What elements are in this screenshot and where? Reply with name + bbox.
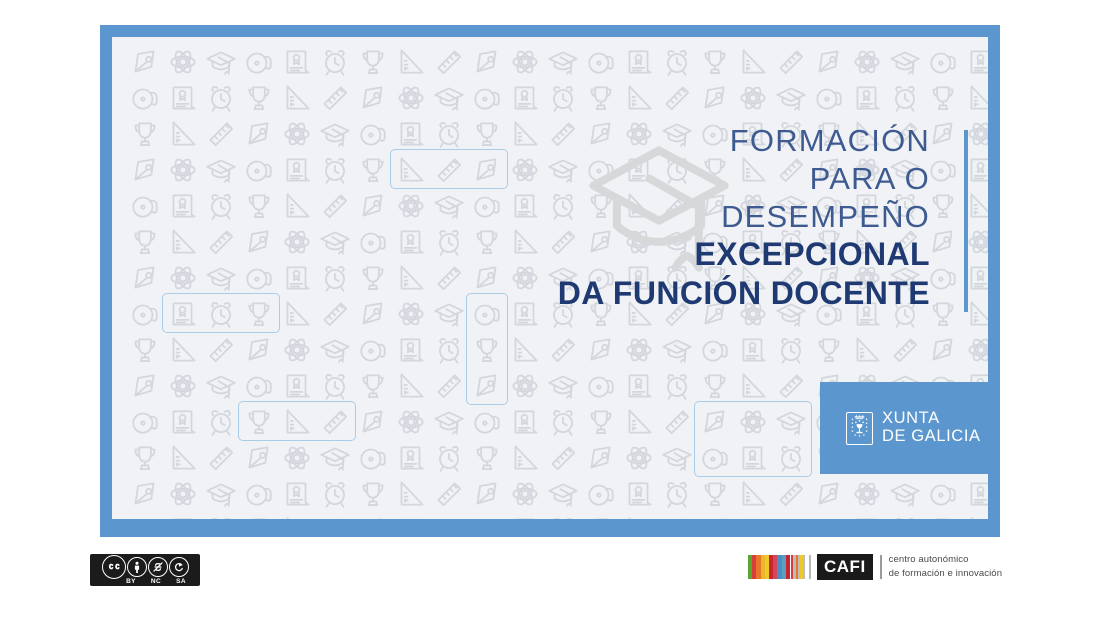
- certificate-icon: [622, 369, 656, 403]
- triangle-ruler-icon: [166, 441, 200, 475]
- triangle-ruler-icon: [280, 189, 314, 223]
- alarm-clock-icon: [660, 369, 694, 403]
- certificate-icon: [166, 513, 200, 519]
- trophy-icon: [356, 477, 390, 511]
- ruler-icon: [774, 45, 808, 79]
- triangle-ruler-icon: [280, 513, 314, 519]
- graduation-cap-icon: [204, 261, 238, 295]
- bell-icon: [242, 261, 276, 295]
- alarm-clock-icon: [546, 81, 580, 115]
- atom-icon: [166, 261, 200, 295]
- bell-icon: [242, 369, 276, 403]
- triangle-ruler-icon: [508, 117, 542, 151]
- trophy-icon: [698, 45, 732, 79]
- trophy-icon: [242, 513, 276, 519]
- pen-nib-icon: [926, 333, 960, 367]
- title-line-4: EXCEPCIONAL: [558, 235, 930, 274]
- graduation-cap-icon: [888, 45, 922, 79]
- bell-icon: [128, 189, 162, 223]
- pen-nib-icon: [242, 225, 276, 259]
- alarm-clock-icon: [204, 513, 238, 519]
- ruler-icon: [204, 333, 238, 367]
- atom-icon: [622, 333, 656, 367]
- trophy-icon: [128, 441, 162, 475]
- ruler-icon: [432, 45, 466, 79]
- ruler-icon: [432, 369, 466, 403]
- pen-nib-icon: [242, 117, 276, 151]
- certificate-icon: [280, 45, 314, 79]
- title-line-1: FORMACIÓN: [558, 122, 930, 160]
- atom-icon: [280, 117, 314, 151]
- graduation-cap-icon: [204, 45, 238, 79]
- cafi-tagline-divider: [880, 555, 882, 579]
- trophy-icon: [698, 369, 732, 403]
- triangle-ruler-icon: [964, 513, 988, 519]
- creative-commons-license-badge[interactable]: BY NC SA: [90, 554, 200, 586]
- ruler-icon: [204, 225, 238, 259]
- triangle-ruler-icon: [850, 333, 884, 367]
- trophy-icon: [812, 333, 846, 367]
- atom-icon: [394, 405, 428, 439]
- pen-nib-icon: [356, 405, 390, 439]
- bell-icon: [926, 477, 960, 511]
- triangle-ruler-icon: [508, 441, 542, 475]
- title-line-3: DESEMPEÑO: [558, 198, 930, 236]
- triangle-ruler-icon: [166, 225, 200, 259]
- sa-share-alike-icon: [169, 557, 189, 577]
- cafi-divider: [809, 555, 811, 579]
- atom-icon: [394, 297, 428, 331]
- trophy-icon: [698, 477, 732, 511]
- graduation-cap-icon: [318, 225, 352, 259]
- graduation-cap-icon: [318, 333, 352, 367]
- ruler-icon: [660, 81, 694, 115]
- cafi-stripe-9: [786, 555, 790, 579]
- certificate-icon: [850, 81, 884, 115]
- ruler-icon: [204, 441, 238, 475]
- certificate-icon: [622, 45, 656, 79]
- certificate-icon: [964, 45, 988, 79]
- ruler-icon: [318, 189, 352, 223]
- graduation-cap-icon: [546, 45, 580, 79]
- bell-icon: [242, 477, 276, 511]
- alarm-clock-icon: [888, 513, 922, 519]
- bell-icon: [128, 405, 162, 439]
- bell-icon: [356, 441, 390, 475]
- nc-no-money-icon: [148, 557, 168, 577]
- highlight-cap-bell-block: [694, 401, 812, 477]
- pen-nib-icon: [356, 513, 390, 519]
- atom-icon: [280, 225, 314, 259]
- graduation-cap-icon: [660, 333, 694, 367]
- cc-label-sa: SA: [173, 578, 189, 585]
- trophy-icon: [584, 81, 618, 115]
- trophy-icon: [128, 333, 162, 367]
- bell-icon: [812, 81, 846, 115]
- xunta-line-1: XUNTA: [882, 410, 981, 428]
- trophy-icon: [470, 117, 504, 151]
- certificate-icon: [736, 333, 770, 367]
- certificate-icon: [280, 369, 314, 403]
- atom-icon: [508, 369, 542, 403]
- triangle-ruler-icon: [964, 81, 988, 115]
- alarm-clock-icon: [432, 441, 466, 475]
- ruler-icon: [660, 405, 694, 439]
- atom-icon: [622, 441, 656, 475]
- certificate-icon: [166, 189, 200, 223]
- certificate-icon: [508, 405, 542, 439]
- triangle-ruler-icon: [622, 405, 656, 439]
- bell-icon: [470, 405, 504, 439]
- ruler-icon: [888, 333, 922, 367]
- pen-nib-icon: [926, 117, 960, 151]
- alarm-clock-icon: [888, 81, 922, 115]
- graduation-cap-icon: [432, 513, 466, 519]
- trophy-icon: [356, 261, 390, 295]
- bell-icon: [698, 333, 732, 367]
- pen-nib-icon: [128, 45, 162, 79]
- cafi-color-stripes: [748, 555, 790, 579]
- bell-icon: [128, 81, 162, 115]
- atom-icon: [736, 81, 770, 115]
- atom-icon: [280, 441, 314, 475]
- triangle-ruler-icon: [622, 81, 656, 115]
- trophy-icon: [356, 45, 390, 79]
- pen-nib-icon: [356, 81, 390, 115]
- certificate-icon: [394, 441, 428, 475]
- triangle-ruler-icon: [622, 513, 656, 519]
- certificate-icon: [166, 405, 200, 439]
- bell-icon: [926, 153, 960, 187]
- trophy-icon: [584, 513, 618, 519]
- pen-nib-icon: [698, 513, 732, 519]
- cc-label-by: BY: [123, 578, 139, 585]
- xunta-de-galicia-logo-panel: XUNTA DE GALICIA: [820, 382, 988, 474]
- bell-icon: [470, 189, 504, 223]
- certificate-icon: [850, 513, 884, 519]
- cafi-logo: CAFI centro autonómico de formación e in…: [748, 552, 1002, 582]
- graduation-cap-icon: [546, 477, 580, 511]
- graduation-cap-icon: [432, 189, 466, 223]
- ruler-icon: [318, 297, 352, 331]
- ruler-icon: [660, 513, 694, 519]
- certificate-icon: [508, 81, 542, 115]
- bell-icon: [584, 369, 618, 403]
- trophy-icon: [128, 225, 162, 259]
- triangle-ruler-icon: [508, 333, 542, 367]
- atom-icon: [166, 153, 200, 187]
- bell-icon: [812, 513, 846, 519]
- pen-nib-icon: [584, 333, 618, 367]
- ruler-icon: [546, 333, 580, 367]
- trophy-icon: [356, 153, 390, 187]
- title-line-2: PARA O: [558, 160, 930, 198]
- alarm-clock-icon: [318, 369, 352, 403]
- slide-content-area: FORMACIÓN PARA O DESEMPEÑO EXCEPCIONAL D…: [112, 37, 988, 519]
- graduation-cap-icon: [318, 117, 352, 151]
- certificate-icon: [394, 117, 428, 151]
- alarm-clock-icon: [204, 405, 238, 439]
- ruler-icon: [318, 81, 352, 115]
- alarm-clock-icon: [546, 405, 580, 439]
- highlight-vertical-pen: [466, 293, 508, 405]
- graduation-cap-icon: [318, 441, 352, 475]
- triangle-ruler-icon: [394, 261, 428, 295]
- title-line-5: DA FUNCIÓN DOCENTE: [558, 274, 930, 313]
- cc-icon: [102, 555, 126, 579]
- certificate-icon: [394, 225, 428, 259]
- pen-nib-icon: [128, 261, 162, 295]
- alarm-clock-icon: [546, 513, 580, 519]
- triangle-ruler-icon: [166, 333, 200, 367]
- trophy-icon: [926, 513, 960, 519]
- certificate-icon: [508, 513, 542, 519]
- certificate-icon: [622, 477, 656, 511]
- alarm-clock-icon: [432, 117, 466, 151]
- trophy-icon: [470, 441, 504, 475]
- atom-icon: [166, 369, 200, 403]
- certificate-icon: [166, 81, 200, 115]
- triangle-ruler-icon: [736, 45, 770, 79]
- highlight-pen-row: [238, 401, 356, 441]
- pen-nib-icon: [470, 477, 504, 511]
- pen-nib-icon: [356, 189, 390, 223]
- graduation-cap-icon: [204, 477, 238, 511]
- alarm-clock-icon: [318, 261, 352, 295]
- trophy-icon: [242, 81, 276, 115]
- atom-icon: [736, 513, 770, 519]
- atom-icon: [166, 477, 200, 511]
- graduation-cap-icon: [204, 369, 238, 403]
- slide-title-block: FORMACIÓN PARA O DESEMPEÑO EXCEPCIONAL D…: [558, 122, 930, 314]
- xunta-line-2: DE GALICIA: [882, 428, 981, 446]
- ruler-icon: [546, 441, 580, 475]
- triangle-ruler-icon: [736, 477, 770, 511]
- certificate-icon: [280, 261, 314, 295]
- trophy-icon: [356, 369, 390, 403]
- atom-icon: [394, 81, 428, 115]
- cafi-tagline-line-2: de formación e innovación: [889, 567, 1002, 581]
- ruler-icon: [204, 117, 238, 151]
- triangle-ruler-icon: [394, 45, 428, 79]
- graduation-cap-icon: [774, 81, 808, 115]
- cafi-thin-stripe-5: [803, 555, 805, 579]
- bell-icon: [128, 297, 162, 331]
- trophy-icon: [926, 297, 960, 331]
- title-accent-bar: [964, 130, 968, 312]
- graduation-cap-icon: [432, 297, 466, 331]
- certificate-icon: [280, 477, 314, 511]
- highlight-trophy-row: [390, 149, 508, 189]
- trophy-icon: [926, 189, 960, 223]
- ruler-icon: [774, 369, 808, 403]
- certificate-icon: [280, 153, 314, 187]
- alarm-clock-icon: [432, 333, 466, 367]
- pen-nib-icon: [698, 81, 732, 115]
- trophy-icon: [470, 225, 504, 259]
- triangle-ruler-icon: [280, 297, 314, 331]
- pen-nib-icon: [470, 261, 504, 295]
- bell-icon: [356, 225, 390, 259]
- graduation-cap-icon: [660, 441, 694, 475]
- pen-nib-icon: [926, 225, 960, 259]
- pen-nib-icon: [242, 441, 276, 475]
- trophy-icon: [128, 117, 162, 151]
- cc-label-row: BY NC SA: [101, 578, 189, 585]
- ruler-icon: [318, 513, 352, 519]
- graduation-cap-icon: [774, 513, 808, 519]
- certificate-icon: [964, 477, 988, 511]
- alarm-clock-icon: [318, 45, 352, 79]
- bell-icon: [470, 513, 504, 519]
- atom-icon: [394, 513, 428, 519]
- cafi-thin-stripes: [791, 555, 805, 579]
- triangle-ruler-icon: [166, 117, 200, 151]
- atom-icon: [850, 45, 884, 79]
- atom-icon: [964, 333, 988, 367]
- bell-icon: [356, 333, 390, 367]
- cafi-tagline-line-1: centro autonómico: [889, 553, 1002, 567]
- cc-icon-row: [102, 556, 189, 577]
- alarm-clock-icon: [660, 45, 694, 79]
- triangle-ruler-icon: [394, 369, 428, 403]
- alarm-clock-icon: [432, 225, 466, 259]
- bell-icon: [470, 81, 504, 115]
- atom-icon: [280, 333, 314, 367]
- pen-nib-icon: [584, 441, 618, 475]
- atom-icon: [508, 261, 542, 295]
- alarm-clock-icon: [318, 153, 352, 187]
- slide-frame: FORMACIÓN PARA O DESEMPEÑO EXCEPCIONAL D…: [100, 25, 1000, 537]
- bell-icon: [926, 261, 960, 295]
- atom-icon: [166, 45, 200, 79]
- pen-nib-icon: [128, 477, 162, 511]
- ruler-icon: [774, 477, 808, 511]
- triangle-ruler-icon: [280, 81, 314, 115]
- pen-nib-icon: [812, 477, 846, 511]
- alarm-clock-icon: [204, 189, 238, 223]
- pen-nib-icon: [242, 333, 276, 367]
- atom-icon: [394, 189, 428, 223]
- bell-icon: [356, 117, 390, 151]
- bell-icon: [926, 45, 960, 79]
- certificate-icon: [508, 189, 542, 223]
- graduation-cap-icon: [204, 153, 238, 187]
- ruler-icon: [432, 477, 466, 511]
- cafi-tagline: centro autonómico de formación e innovac…: [889, 553, 1002, 581]
- pen-nib-icon: [812, 45, 846, 79]
- by-person-icon: [127, 557, 147, 577]
- graduation-cap-icon: [432, 81, 466, 115]
- pen-nib-icon: [356, 297, 390, 331]
- graduation-cap-icon: [432, 405, 466, 439]
- atom-icon: [508, 153, 542, 187]
- alarm-clock-icon: [318, 477, 352, 511]
- atom-icon: [508, 477, 542, 511]
- atom-icon: [850, 477, 884, 511]
- pen-nib-icon: [470, 45, 504, 79]
- xunta-wordmark: XUNTA DE GALICIA: [882, 410, 981, 446]
- pen-nib-icon: [128, 153, 162, 187]
- bell-icon: [242, 153, 276, 187]
- galicia-chalice-crown-emblem-icon: [846, 412, 873, 445]
- triangle-ruler-icon: [736, 369, 770, 403]
- cc-label-nc: NC: [148, 578, 164, 585]
- alarm-clock-icon: [204, 81, 238, 115]
- alarm-clock-icon: [774, 333, 808, 367]
- trophy-icon: [584, 405, 618, 439]
- trophy-icon: [242, 189, 276, 223]
- triangle-ruler-icon: [508, 225, 542, 259]
- triangle-ruler-icon: [394, 477, 428, 511]
- bell-icon: [128, 513, 162, 519]
- ruler-icon: [432, 261, 466, 295]
- certificate-icon: [394, 333, 428, 367]
- highlight-cap-row: [162, 293, 280, 333]
- trophy-icon: [926, 81, 960, 115]
- bell-icon: [242, 45, 276, 79]
- bell-icon: [584, 45, 618, 79]
- bell-icon: [584, 477, 618, 511]
- cafi-wordmark: CAFI: [817, 554, 873, 580]
- graduation-cap-icon: [546, 369, 580, 403]
- certificate-icon: [508, 297, 542, 331]
- alarm-clock-icon: [660, 477, 694, 511]
- pen-nib-icon: [128, 369, 162, 403]
- atom-icon: [508, 45, 542, 79]
- graduation-cap-icon: [888, 477, 922, 511]
